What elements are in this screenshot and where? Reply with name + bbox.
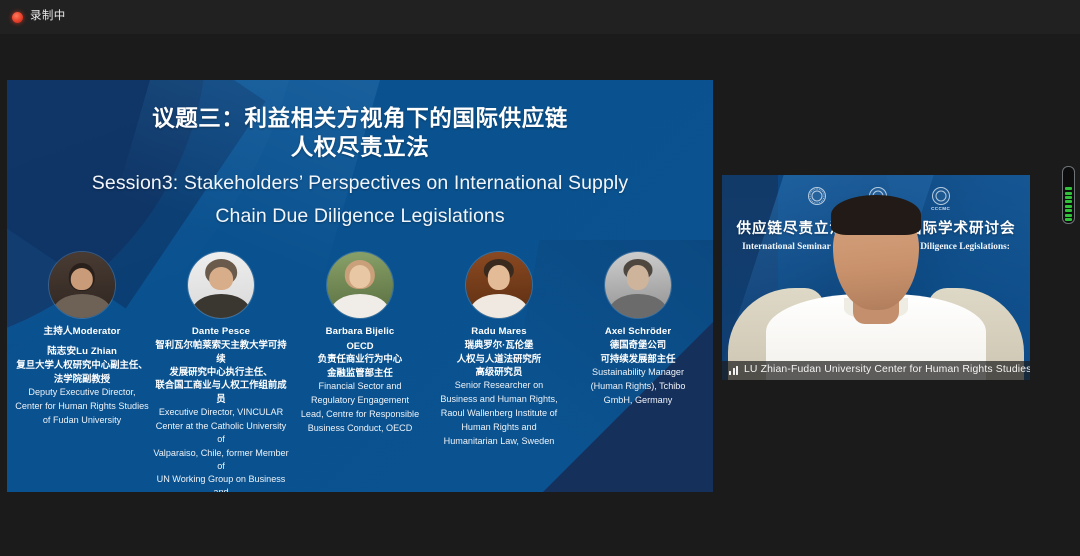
participant-name-label: LU Zhian-Fudan University Center for Hum… (722, 361, 1030, 380)
speaker-name: Barbara Bijelic (326, 325, 395, 338)
speaker-org-cn-3: 联合国工商业与人权工作组前成员 (152, 378, 290, 405)
speaker-list: 主持人Moderator 陆志安Lu Zhian 复旦大学人权研究中心副主任、 … (13, 252, 707, 492)
slide-title-block: 议题三：利益相关方视角下的国际供应链 人权尽责立法 Session3: Stak… (7, 104, 713, 230)
speaker-org-en-3: Lead, Centre for Responsible (301, 408, 419, 421)
speaker-org-en-2: Regulatory Engagement (311, 394, 409, 407)
participant-webcam-person (726, 210, 1026, 380)
speaker-org-cn-2: 法学院副教授 (54, 372, 110, 385)
cccmc-icon (932, 187, 950, 205)
speaker-org-en-3: of Fudan University (43, 414, 121, 427)
speaker-org-cn-2: 发展研究中心执行主任、 (169, 365, 272, 378)
speaker-card-lu-zhian: 主持人Moderator 陆志安Lu Zhian 复旦大学人权研究中心副主任、 … (13, 252, 151, 427)
speaker-role: 主持人Moderator (44, 325, 121, 338)
speaker-org-en-1: Financial Sector and (319, 380, 402, 393)
speaker-org-cn-2: 人权与人道法研究所 (457, 352, 541, 365)
slide-title-cn-line1: 议题三：利益相关方视角下的国际供应链 (33, 104, 687, 133)
speaker-org-label: OECD (346, 339, 373, 352)
participant-video-tile[interactable]: CNTAC CCCMC 供应链尽责立法与新挑战国际学术研讨会 Internati… (722, 175, 1030, 380)
speaker-org-cn-1: 负责任商业行为中心 (318, 352, 402, 365)
speaker-org-cn-1: 德国奇堡公司 (610, 338, 666, 351)
university-seal-icon (808, 187, 826, 205)
person-hair (831, 195, 921, 235)
speaker-org-en-3: GmbH, Germany (604, 394, 673, 407)
recording-indicator-bar: 录制中 (0, 0, 1080, 34)
speaker-org-cn-3: 高级研究员 (476, 365, 523, 378)
speaker-org-en-2: Center for Human Rights Studies (15, 400, 148, 413)
speaker-name: Dante Pesce (192, 325, 250, 338)
university-seal-logo (808, 187, 826, 207)
speaker-org-cn-1: 瑞典罗尔·瓦伦堡 (465, 338, 534, 351)
avatar-radu-mares (466, 252, 532, 318)
speaker-org-en-5: Humanitarian Law, Sweden (444, 435, 555, 448)
recording-label: 录制中 (30, 11, 66, 23)
cccmc-logo: CCCMC (931, 187, 950, 212)
record-dot-icon (12, 12, 23, 23)
avatar-lu-zhian (49, 252, 115, 318)
participant-name-text: LU Zhian-Fudan University Center for Hum… (744, 364, 1030, 376)
speaker-card-dante-pesce: Dante Pesce 智利瓦尔帕莱索天主教大学可持续 发展研究中心执行主任、 … (152, 252, 290, 492)
speaker-name: Axel Schröder (605, 325, 671, 338)
speaker-org-en-3: Raoul Wallenberg Institute of (441, 407, 557, 420)
avatar-axel-schroder (605, 252, 671, 318)
speaker-name: 陆志安Lu Zhian (47, 345, 117, 358)
signal-bars-icon (729, 365, 738, 375)
speaker-org-en-4: UN Working Group on Business and (152, 473, 290, 492)
speaker-org-en-4: Human Rights and (461, 421, 536, 434)
speaker-org-en-2: Center at the Catholic University of (152, 420, 290, 446)
speaker-card-axel-schroder: Axel Schröder 德国奇堡公司 可持续发展部主任 Sustainabi… (569, 252, 707, 407)
speaker-card-barbara-bijelic: Barbara Bijelic OECD 负责任商业行为中心 金融监管部主任 F… (291, 252, 429, 435)
speaker-org-en-2: (Human Rights), Tchibo (591, 380, 686, 393)
slide-title-cn-line2: 人权尽责立法 (33, 133, 687, 162)
speaker-org-en-1: Sustainability Manager (592, 366, 684, 379)
slide-title-en-line2: Chain Due Diligence Legislations (33, 204, 687, 230)
avatar-dante-pesce (188, 252, 254, 318)
speaker-org-cn-1: 智利瓦尔帕莱索天主教大学可持续 (152, 338, 290, 365)
speaker-org-en-2: Business and Human Rights, (440, 393, 557, 406)
speaker-org-en-3: Valparaiso, Chile, former Member of (152, 447, 290, 473)
avatar-barbara-bijelic (327, 252, 393, 318)
shared-slide[interactable]: 议题三：利益相关方视角下的国际供应链 人权尽责立法 Session3: Stak… (7, 80, 713, 492)
speaker-org-cn-1: 复旦大学人权研究中心副主任、 (16, 358, 147, 371)
speaker-org-en-1: Executive Director, VINCULAR (159, 406, 283, 419)
slide-title-en-line1: Session3: Stakeholders’ Perspectives on … (33, 171, 687, 197)
speaker-org-en-4: Business Conduct, OECD (308, 422, 413, 435)
speaker-org-cn-2: 金融监管部主任 (327, 366, 393, 379)
speaker-card-radu-mares: Radu Mares 瑞典罗尔·瓦伦堡 人权与人道法研究所 高级研究员 Seni… (430, 252, 568, 448)
speaker-org-en-1: Senior Researcher on (455, 379, 543, 392)
speaker-org-en-1: Deputy Executive Director, (28, 386, 135, 399)
speaker-org-cn-2: 可持续发展部主任 (600, 352, 675, 365)
audio-level-meter[interactable] (1062, 166, 1075, 224)
speaker-name: Radu Mares (471, 325, 526, 338)
meeting-screen: 录制中 议题三：利益相关方视角下的国际供应链 人权尽责立法 Session3: … (0, 0, 1080, 556)
